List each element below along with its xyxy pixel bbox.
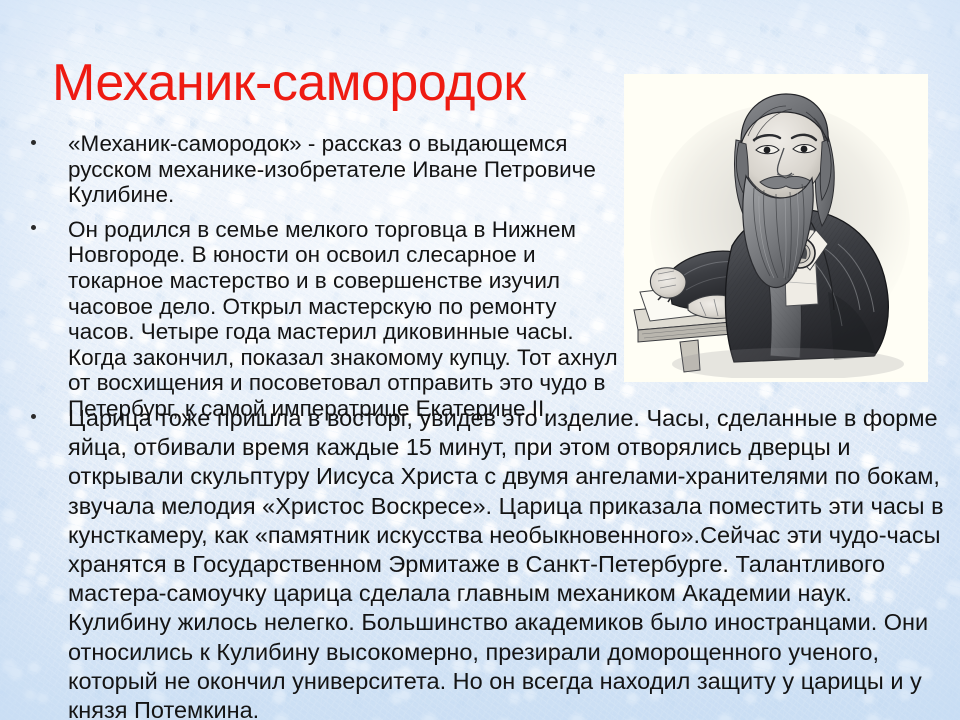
slide-title: Механик-самородок (52, 54, 612, 112)
bullet-block-top: «Механик-самородок» - рассказ о выдающем… (22, 131, 622, 422)
bullet-text: Он родился в семье мелкого торговца в Ни… (68, 217, 622, 422)
bullet-dot-icon (22, 131, 68, 157)
portrait-image (628, 78, 924, 378)
bullet-block-bottom: Царица тоже пришла в восторг, увидев это… (22, 404, 952, 720)
kulibin-engraving-illustration (628, 78, 924, 378)
portrait-image-frame (624, 74, 928, 382)
bullet-item: Он родился в семье мелкого торговца в Ни… (22, 217, 622, 422)
bullet-item: Царица тоже пришла в восторг, увидев это… (22, 404, 952, 720)
bullet-item: «Механик-самородок» - рассказ о выдающем… (22, 131, 622, 208)
bullet-dot-icon (22, 217, 68, 243)
presentation-slide: Механик-самородок «Механик-самородок» - … (0, 0, 960, 720)
bullet-dot-icon (22, 404, 68, 433)
bullet-text: Царица тоже пришла в восторг, увидев это… (68, 404, 952, 720)
bullet-text: «Механик-самородок» - рассказ о выдающем… (68, 131, 622, 208)
